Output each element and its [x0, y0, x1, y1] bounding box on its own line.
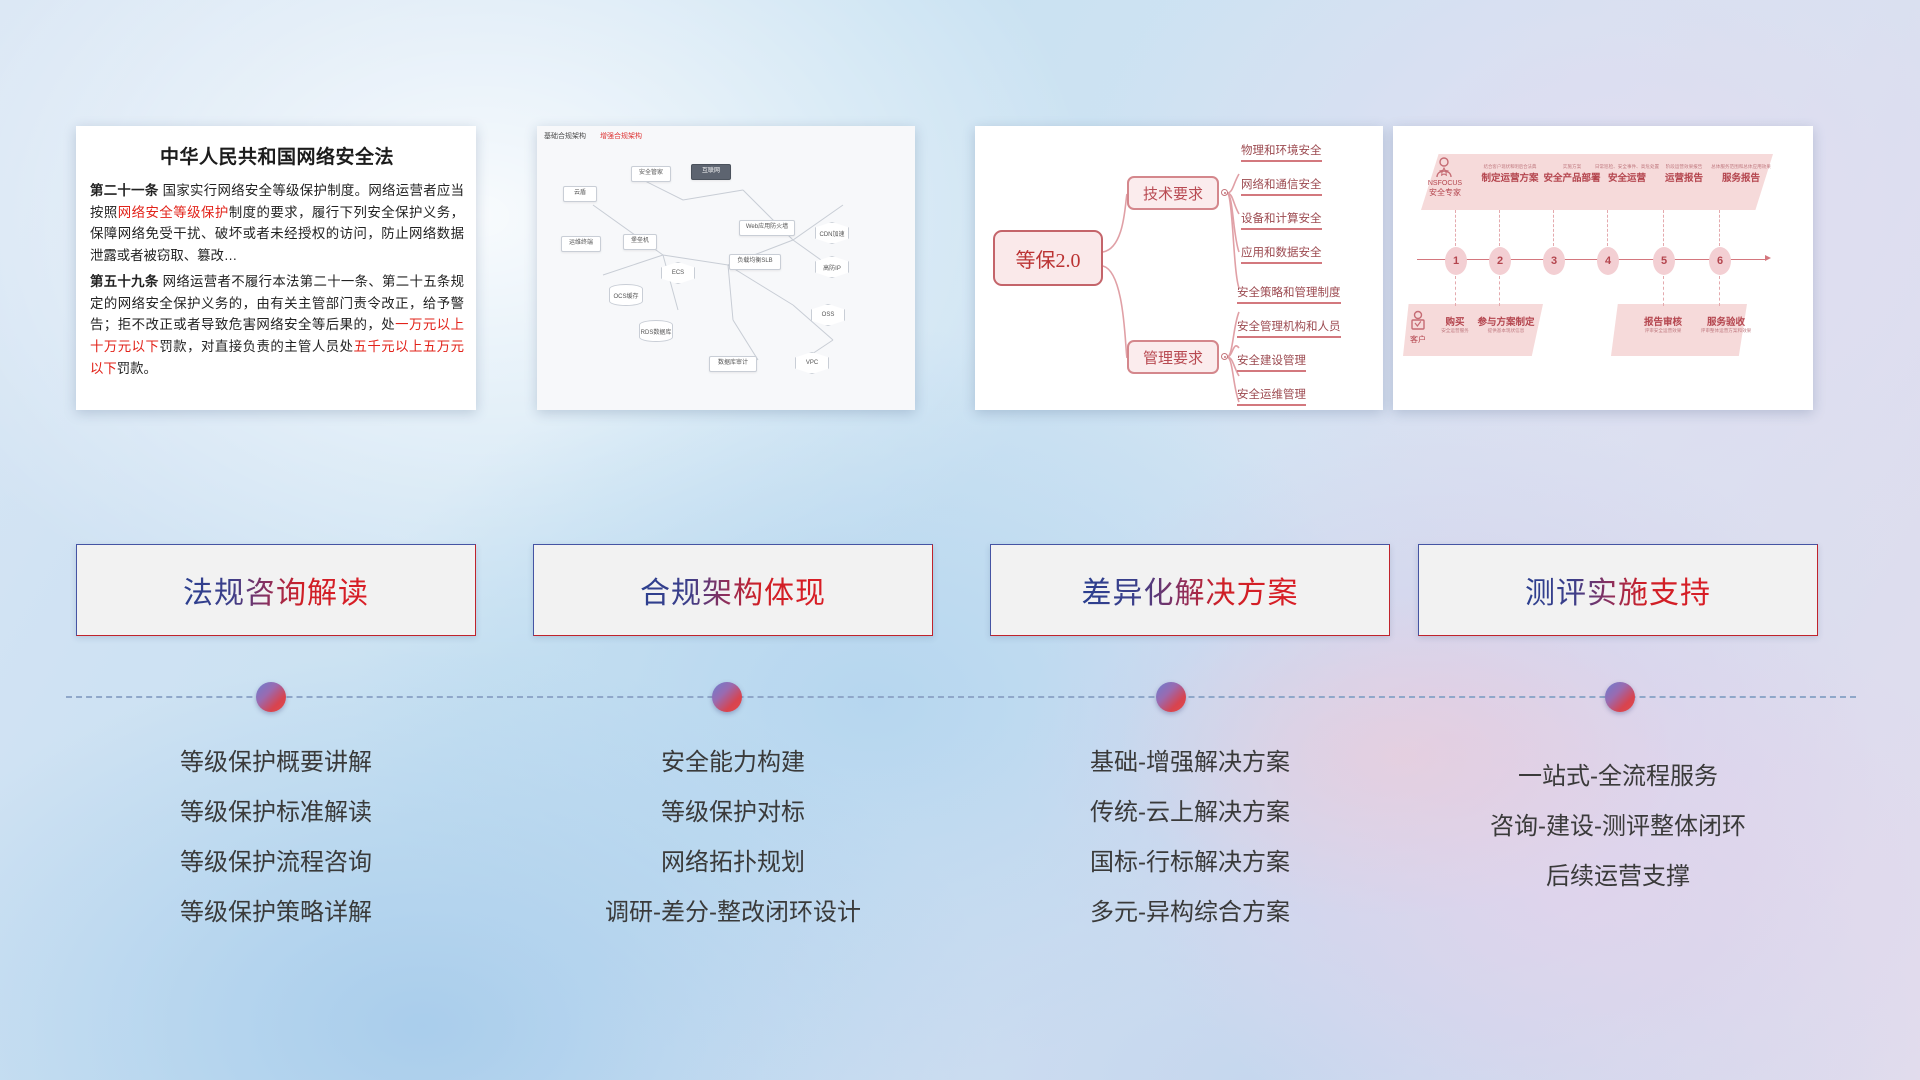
list-item: 国标-行标解决方案 [990, 838, 1390, 888]
expert-avatar-icon [1433, 156, 1455, 178]
law-article-21: 第二十一条 国家实行网络安全等级保护制度。网络运营者应当按照网络安全等级保护制度… [90, 180, 464, 267]
category-header-solution-label: 差异化解决方案 [1082, 568, 1299, 612]
mindmap-collapse-dot-technical[interactable] [1221, 189, 1228, 196]
timeline-dash-3 [1553, 210, 1554, 246]
list-item: 网络拓扑规划 [533, 838, 933, 888]
reference-cards-row: 中华人民共和国网络安全法 第二十一条 国家实行网络安全等级保护制度。网络运营者应… [0, 126, 1920, 436]
list-item: 等级保护流程咨询 [76, 838, 476, 888]
category-header-assessment-label: 测评实施支持 [1525, 568, 1711, 612]
mindmap: 等保2.0 技术要求 物理和环境安全 网络和通信安全 设备和计算安全 应用和数据… [975, 126, 1383, 410]
architecture-node-security-steward: 安全管家 [631, 166, 671, 182]
timeline-bottom-step-1-title: 购买 [1431, 314, 1479, 328]
detail-list-regulation: 等级保护概要讲解 等级保护标准解读 等级保护流程咨询 等级保护策略详解 [76, 738, 476, 938]
timeline-bottom-step-5-title: 报告审核 [1633, 314, 1693, 328]
timeline-node-2[interactable]: 2 [1489, 247, 1511, 275]
list-item: 传统-云上解决方案 [990, 788, 1390, 838]
progress-knot-regulation[interactable] [256, 682, 286, 712]
detail-list-assessment: 一站式-全流程服务 咨询-建设-测评整体闭环 后续运营支撑 [1418, 752, 1818, 902]
architecture-node-ops-terminal: 运维终端 [561, 236, 601, 252]
service-timeline: NSFOCUS 安全专家 结合客户现状和明后合法典 制定运营方案 实施方案 安全… [1393, 126, 1813, 410]
architecture-node-slb: 负载均衡SLB [729, 254, 781, 270]
timeline-axis-arrow-icon [1765, 255, 1771, 261]
mindmap-leaf-network-comm: 网络和通信安全 [1241, 176, 1322, 196]
architecture-tabs: 基础合规架构 增强合规架构 [544, 131, 654, 141]
law-article-59-label: 第五十九条 [90, 274, 159, 289]
mindmap-branch-management: 管理要求 [1127, 340, 1219, 374]
timeline-node-4[interactable]: 4 [1597, 247, 1619, 275]
law-article-59-text-c: 罚款。 [117, 361, 157, 376]
timeline-dash-b2 [1499, 276, 1500, 306]
tab-enhanced-architecture: 增强合规架构 [600, 133, 642, 140]
timeline-bottom-step-1-sub: 安全运营服务 [1431, 328, 1479, 334]
architecture-node-waf: Web应用防火墙 [739, 220, 795, 236]
card-cybersecurity-law: 中华人民共和国网络安全法 第二十一条 国家实行网络安全等级保护制度。网络运营者应… [76, 126, 476, 410]
mindmap-collapse-dot-management[interactable] [1221, 353, 1228, 360]
category-header-regulation[interactable]: 法规咨询解读 [76, 544, 476, 636]
timeline-top-step-6-title: 服务报告 [1693, 170, 1789, 184]
timeline-node-6[interactable]: 6 [1709, 247, 1731, 275]
timeline-bottom-step-2: 参与方案制定 提供基本现状信息 [1473, 314, 1539, 334]
role-provider-line1: NSFOCUS [1419, 180, 1471, 187]
list-item: 咨询-建设-测评整体闭环 [1418, 802, 1818, 852]
customer-avatar-icon [1409, 310, 1427, 332]
timeline-dash-b6 [1719, 276, 1720, 306]
architecture-node-rds: RDS数据库 [639, 320, 673, 342]
list-item: 后续运营支撑 [1418, 852, 1818, 902]
mindmap-leaf-construction-mgmt: 安全建设管理 [1237, 352, 1306, 372]
card-mindmap-dengbao: 等保2.0 技术要求 物理和环境安全 网络和通信安全 设备和计算安全 应用和数据… [975, 126, 1383, 410]
mindmap-leaf-device-compute: 设备和计算安全 [1241, 210, 1322, 230]
architecture-node-cloud-shield: 云盾 [563, 186, 597, 202]
timeline-bottom-step-2-sub: 提供基本现状信息 [1473, 328, 1539, 334]
progress-track [66, 696, 1856, 698]
role-label-provider: NSFOCUS 安全专家 [1419, 180, 1471, 198]
list-item: 安全能力构建 [533, 738, 933, 788]
timeline-bottom-step-2-title: 参与方案制定 [1473, 314, 1539, 328]
timeline-bottom-step-6-sub: 评审整体运营方案和效果 [1693, 328, 1759, 334]
card-nsfocus-timeline: NSFOCUS 安全专家 结合客户现状和明后合法典 制定运营方案 实施方案 安全… [1393, 126, 1813, 410]
list-item: 调研-差分-整改闭环设计 [533, 888, 933, 938]
list-item: 等级保护标准解读 [76, 788, 476, 838]
card-cloud-architecture: 基础合规架构 增强合规架构 [537, 126, 915, 410]
law-article-59: 第五十九条 网络运营者不履行本法第二十一条、第二十五条规定的网络安全保护义务的，… [90, 271, 464, 380]
slide-stage: 中华人民共和国网络安全法 第二十一条 国家实行网络安全等级保护制度。网络运营者应… [0, 0, 1920, 1080]
list-item: 等级保护概要讲解 [76, 738, 476, 788]
timeline-dash-4 [1607, 210, 1608, 246]
mindmap-leaf-org-personnel: 安全管理机构和人员 [1237, 318, 1341, 338]
detail-list-architecture: 安全能力构建 等级保护对标 网络拓扑规划 调研-差分-整改闭环设计 [533, 738, 933, 938]
category-headers-row: 法规咨询解读 合规架构体现 差异化解决方案 测评实施支持 [0, 544, 1920, 636]
timeline-bottom-step-1: 购买 安全运营服务 [1431, 314, 1479, 334]
timeline-bottom-step-6: 服务验收 评审整体运营方案和效果 [1693, 314, 1759, 334]
architecture-diagram: 基础合规架构 增强合规架构 [537, 126, 915, 410]
list-item: 多元-异构综合方案 [990, 888, 1390, 938]
timeline-bottom-step-5: 报告审核 评审安全运营效果 [1633, 314, 1693, 334]
timeline-node-5[interactable]: 5 [1653, 247, 1675, 275]
progress-knot-assessment[interactable] [1605, 682, 1635, 712]
timeline-dash-1 [1455, 210, 1456, 246]
category-header-regulation-label: 法规咨询解读 [183, 568, 369, 612]
timeline-node-1[interactable]: 1 [1445, 247, 1467, 275]
timeline-dash-b5 [1663, 276, 1664, 306]
detail-lists-row: 等级保护概要讲解 等级保护标准解读 等级保护流程咨询 等级保护策略详解 安全能力… [0, 738, 1920, 988]
architecture-node-bastion: 堡垒机 [623, 234, 657, 250]
mindmap-leaf-physical-env: 物理和环境安全 [1241, 142, 1322, 162]
mindmap-root: 等保2.0 [993, 230, 1103, 286]
architecture-node-db-audit: 数据库审计 [709, 356, 757, 372]
category-header-architecture[interactable]: 合规架构体现 [533, 544, 933, 636]
category-header-architecture-label: 合规架构体现 [640, 568, 826, 612]
timeline-dash-b1 [1455, 276, 1456, 306]
timeline-dash-5 [1663, 210, 1664, 246]
list-item: 等级保护对标 [533, 788, 933, 838]
list-item: 等级保护策略详解 [76, 888, 476, 938]
law-article-59-text-b: 罚款，对直接负责的主管人员处 [159, 339, 353, 354]
law-article-21-highlight: 网络安全等级保护 [118, 205, 229, 220]
mindmap-leaf-ops-mgmt: 安全运维管理 [1237, 386, 1306, 406]
mindmap-leaf-app-data: 应用和数据安全 [1241, 244, 1322, 264]
architecture-node-internet: 互联网 [691, 164, 731, 180]
timeline-dash-6 [1719, 210, 1720, 246]
role-provider-line2: 安全专家 [1419, 187, 1471, 198]
list-item: 一站式-全流程服务 [1418, 752, 1818, 802]
timeline-bottom-step-6-title: 服务验收 [1693, 314, 1759, 328]
role-label-customer: 客户 [1405, 334, 1431, 345]
timeline-node-3[interactable]: 3 [1543, 247, 1565, 275]
category-header-assessment[interactable]: 测评实施支持 [1418, 544, 1818, 636]
category-header-solution[interactable]: 差异化解决方案 [990, 544, 1390, 636]
detail-list-solution: 基础-增强解决方案 传统-云上解决方案 国标-行标解决方案 多元-异构综合方案 [990, 738, 1390, 938]
timeline-bottom-step-5-sub: 评审安全运营效果 [1633, 328, 1693, 334]
architecture-canvas: 云盾 互联网 安全管家 运维终端 堡垒机 Web应用防火墙 负载均衡SLB EC… [543, 144, 909, 404]
timeline-dash-2 [1499, 210, 1500, 246]
tab-basic-architecture: 基础合规架构 [544, 133, 586, 140]
law-document: 中华人民共和国网络安全法 第二十一条 国家实行网络安全等级保护制度。网络运营者应… [76, 126, 476, 393]
law-article-21-label: 第二十一条 [90, 183, 159, 198]
list-item: 基础-增强解决方案 [990, 738, 1390, 788]
progress-knot-architecture[interactable] [712, 682, 742, 712]
architecture-node-ocs: OCS缓存 [609, 284, 643, 306]
progress-knot-solution[interactable] [1156, 682, 1186, 712]
mindmap-branch-technical: 技术要求 [1127, 176, 1219, 210]
law-title: 中华人民共和国网络安全法 [90, 142, 464, 169]
timeline-top-step-6: 总体服务范围和总体应用效果 服务报告 [1693, 164, 1789, 184]
mindmap-leaf-policy-system: 安全策略和管理制度 [1237, 284, 1341, 304]
